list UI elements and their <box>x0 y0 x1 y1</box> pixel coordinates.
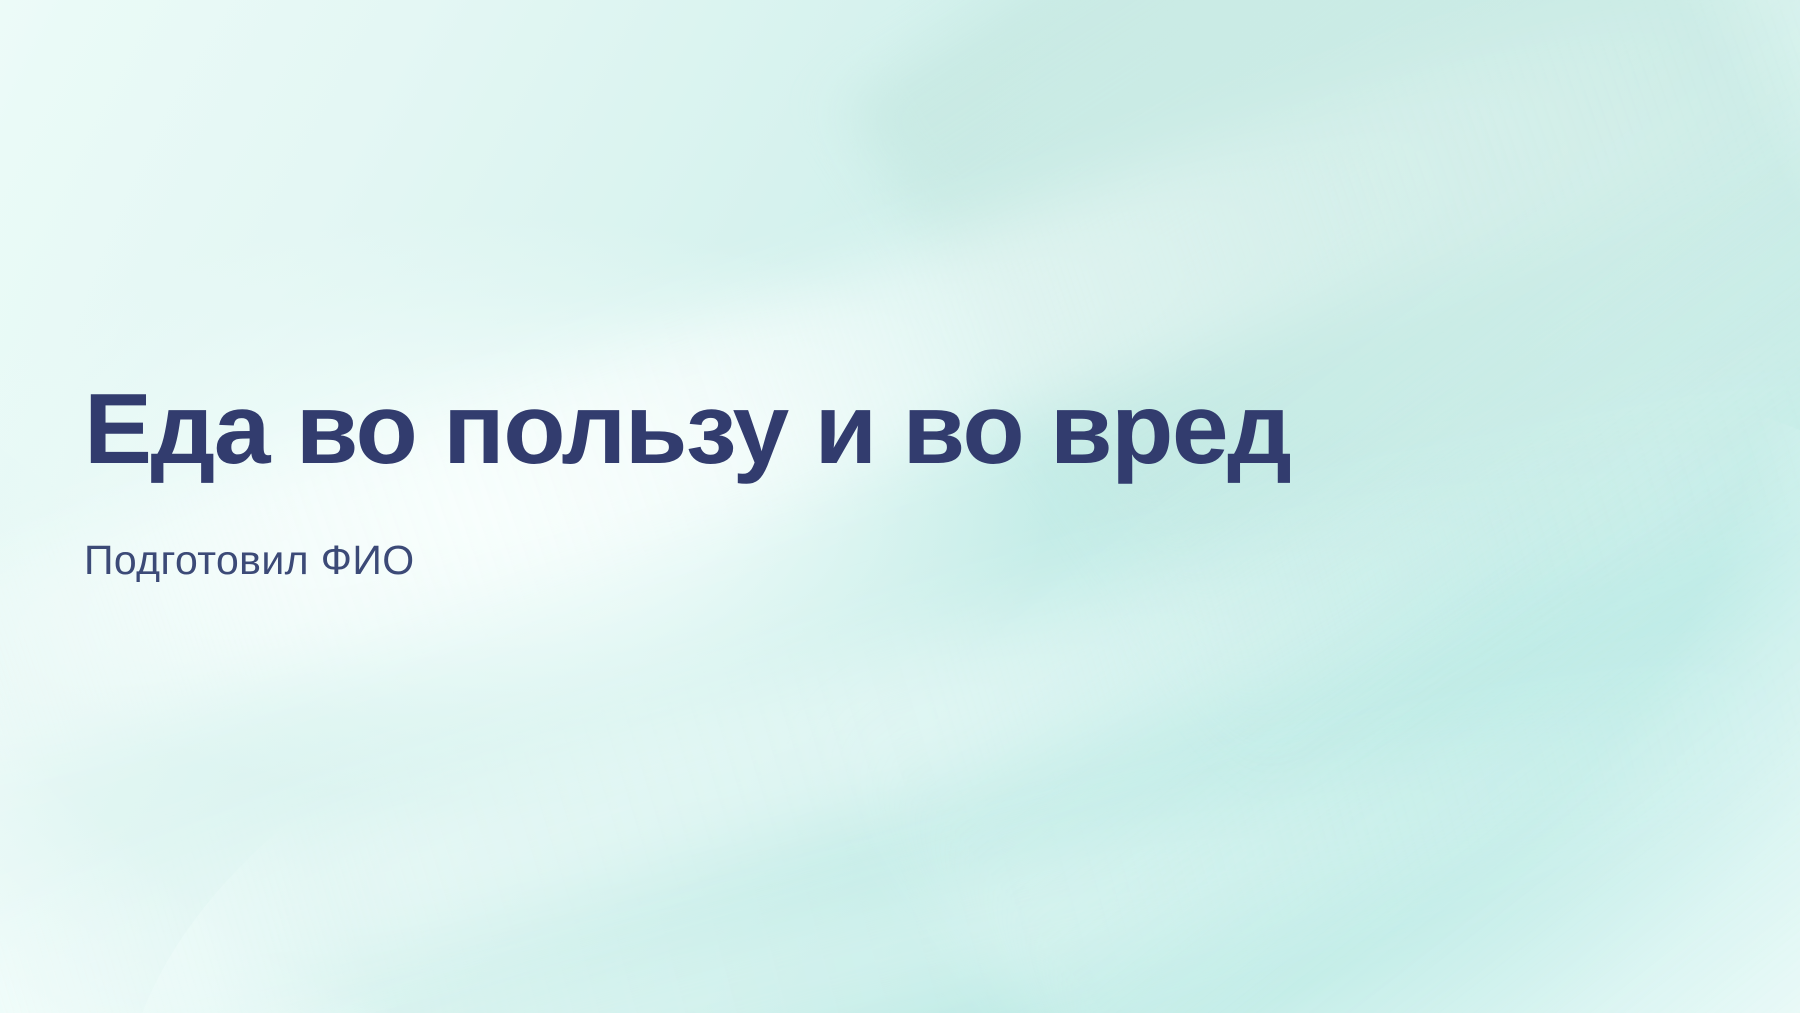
slide-text-block: Еда во пользу и во вред Подготовил ФИО <box>84 376 1704 585</box>
presentation-slide: Еда во пользу и во вред Подготовил ФИО <box>0 0 1800 1013</box>
background-streak-middle <box>0 249 1800 1013</box>
slide-subtitle: Подготовил ФИО <box>84 482 1704 585</box>
background-wave-arc-top <box>0 0 1800 740</box>
slide-title: Еда во пользу и во вред <box>84 376 1736 482</box>
background-wave-bottom-curve <box>120 553 1800 1013</box>
background-streak-lower <box>0 533 1800 1013</box>
